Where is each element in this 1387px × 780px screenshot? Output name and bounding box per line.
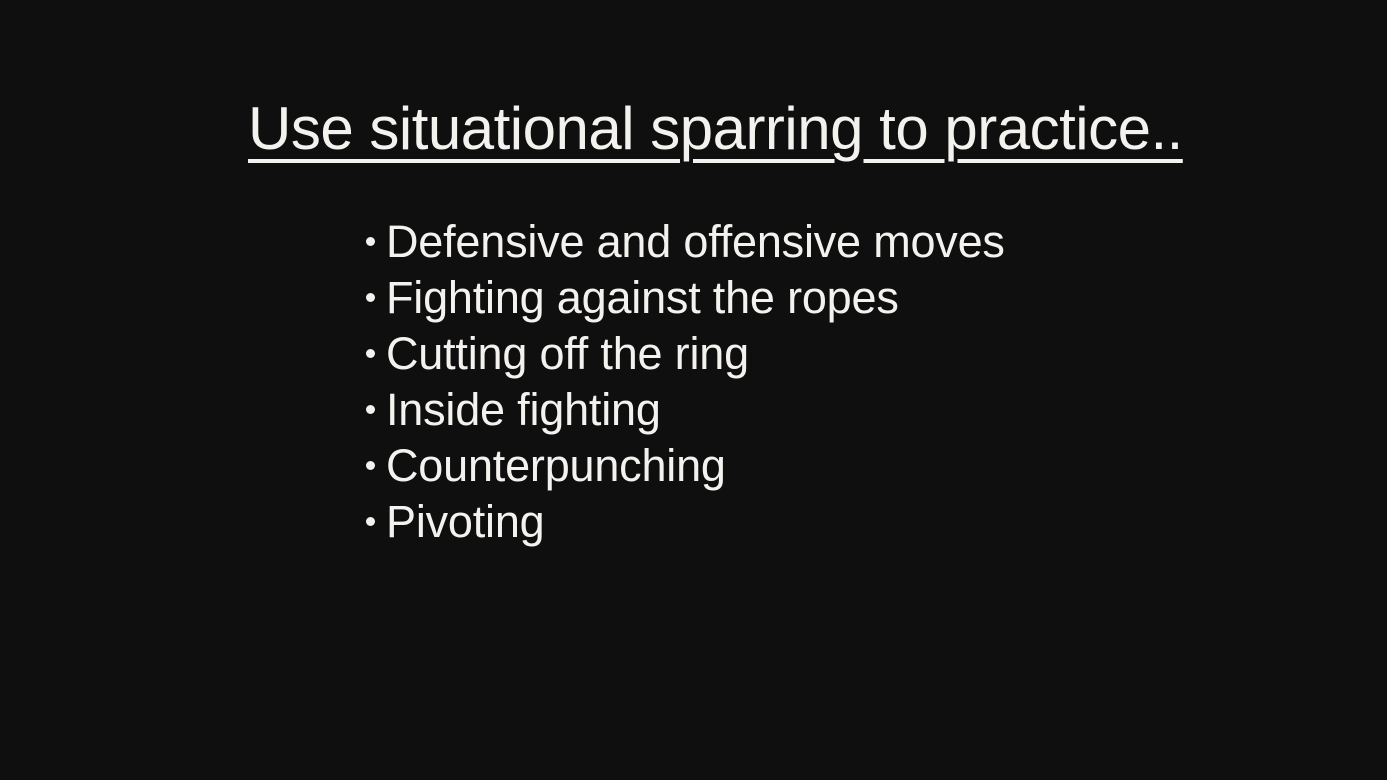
list-item: Inside fighting bbox=[366, 382, 1005, 438]
presentation-slide: Use situational sparring to practice.. D… bbox=[0, 0, 1387, 780]
list-item: Counterpunching bbox=[366, 438, 1005, 494]
bullet-dot-icon bbox=[366, 517, 386, 526]
bullet-dot-icon bbox=[366, 237, 386, 246]
list-item-label: Cutting off the ring bbox=[386, 326, 749, 382]
list-item-label: Pivoting bbox=[386, 494, 545, 550]
list-item: Fighting against the ropes bbox=[366, 270, 1005, 326]
bullet-list: Defensive and offensive moves Fighting a… bbox=[366, 214, 1005, 550]
bullet-dot-icon bbox=[366, 349, 386, 358]
list-item: Defensive and offensive moves bbox=[366, 214, 1005, 270]
list-item-label: Defensive and offensive moves bbox=[386, 214, 1005, 270]
list-item: Pivoting bbox=[366, 494, 1005, 550]
slide-title: Use situational sparring to practice.. bbox=[248, 96, 1148, 162]
bullet-dot-icon bbox=[366, 293, 386, 302]
list-item: Cutting off the ring bbox=[366, 326, 1005, 382]
list-item-label: Fighting against the ropes bbox=[386, 270, 899, 326]
list-item-label: Inside fighting bbox=[386, 382, 661, 438]
bullet-dot-icon bbox=[366, 405, 386, 414]
list-item-label: Counterpunching bbox=[386, 438, 726, 494]
bullet-dot-icon bbox=[366, 461, 386, 470]
